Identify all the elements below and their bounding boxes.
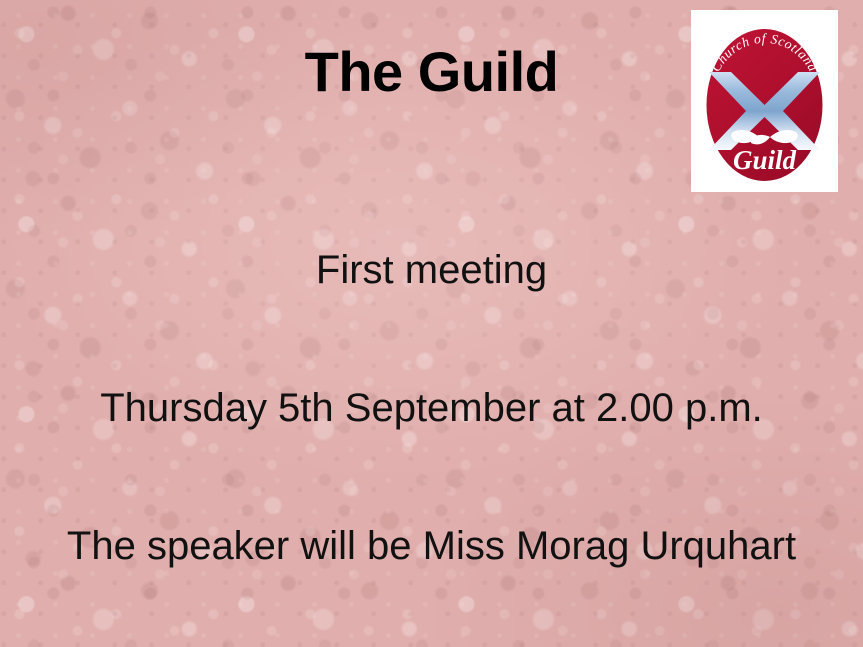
logo-script-text: Guild	[733, 145, 797, 175]
body-line-1: First meeting	[0, 247, 863, 293]
body-line-3: The speaker will be Miss Morag Urquhart	[0, 523, 863, 569]
slide-body-text: First meeting Thursday 5th September at …	[0, 155, 863, 647]
guild-emblem-icon: Church of Scotland Guild	[691, 10, 838, 192]
slide-canvas: The Guild First meeting Thursday 5th Sep…	[0, 0, 863, 647]
church-of-scotland-guild-logo: Church of Scotland Guild	[691, 10, 838, 192]
body-line-2: Thursday 5th September at 2.00 p.m.	[0, 385, 863, 431]
